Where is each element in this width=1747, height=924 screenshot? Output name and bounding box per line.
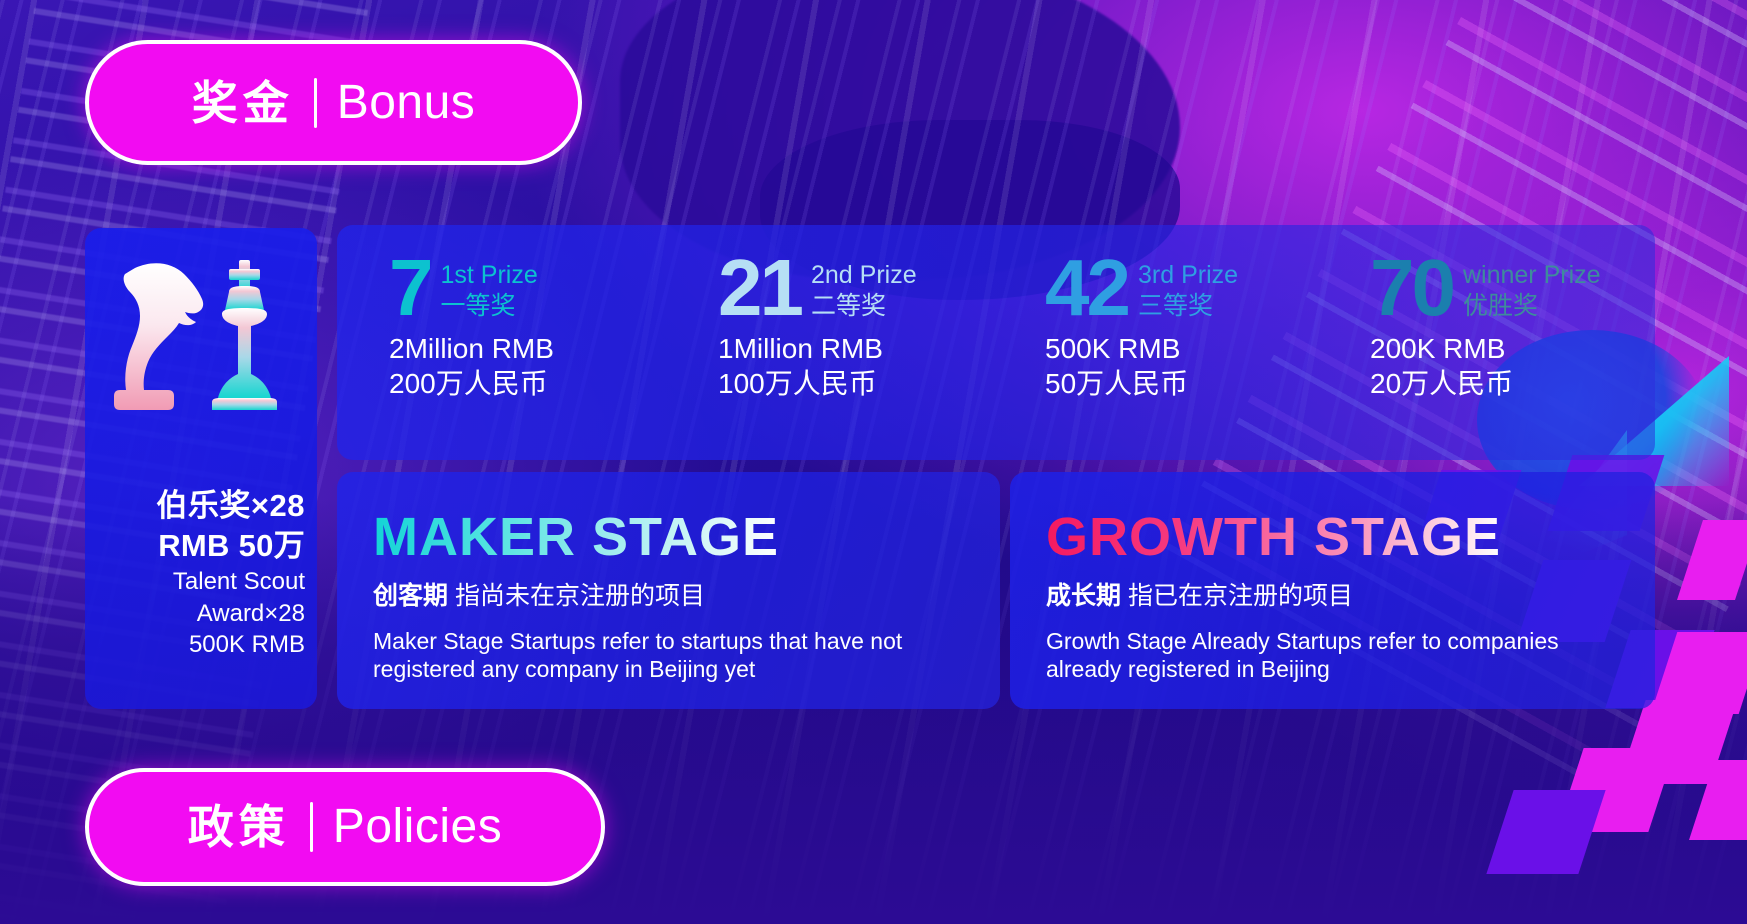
bonus-pill-divider (314, 78, 317, 128)
talent-scout-en-line-3: 500K RMB (95, 631, 305, 659)
prize-tier-winner-cn-label: 优胜奖 (1463, 291, 1601, 321)
maker-stage-cn-rest: 指尚未在京注册的项目 (448, 582, 705, 610)
prize-tier-3rd-count: 42 (1045, 253, 1128, 323)
prize-tier-3rd-en-label: 3rd Prize (1138, 261, 1238, 289)
prize-tier-winner-count: 70 (1370, 253, 1453, 323)
maker-stage-en-description: Maker Stage Startups refer to startups t… (373, 627, 966, 683)
prize-tier-1st: 7 1st Prize 一等奖 2Million RMB 200万人民币 (337, 225, 674, 401)
prize-tier-1st-amount-en: 2Million RMB (389, 331, 674, 366)
talent-scout-cn-amount: RMB 50万 (95, 527, 305, 564)
prize-tier-1st-amount-cn: 200万人民币 (389, 366, 674, 401)
prize-tier-1st-en-label: 1st Prize (441, 261, 538, 289)
prize-tier-winner-amount-en: 200K RMB (1370, 331, 1655, 366)
prize-tier-2nd: 21 2nd Prize 二等奖 1Million RMB 100万人民币 (674, 225, 1003, 401)
growth-stage-cn-description: 成长期 指已在京注册的项目 (1046, 580, 1621, 613)
bonus-pill-button[interactable]: 奖金 Bonus (85, 40, 582, 165)
policies-pill-divider (310, 802, 313, 852)
bonus-pill-en-label: Bonus (337, 79, 476, 127)
maker-stage-title: MAKER STAGE (373, 510, 779, 564)
prize-tier-2nd-amount-cn: 100万人民币 (718, 366, 1003, 401)
prize-tier-3rd: 42 3rd Prize 三等奖 500K RMB 50万人民币 (1003, 225, 1330, 401)
policies-pill-button[interactable]: 政策 Policies (85, 768, 605, 886)
growth-stage-card: GROWTH STAGE 成长期 指已在京注册的项目 Growth Stage … (1010, 472, 1655, 709)
chess-knight-king-icon (108, 256, 294, 436)
maker-stage-card: MAKER STAGE 创客期 指尚未在京注册的项目 Maker Stage S… (337, 472, 1000, 709)
prize-tier-3rd-cn-label: 三等奖 (1138, 291, 1238, 321)
talent-scout-text-block: 伯乐奖×28 RMB 50万 Talent Scout Award×28 500… (85, 488, 317, 659)
policies-pill-en-label: Policies (333, 803, 502, 851)
prize-tier-2nd-amount-en: 1Million RMB (718, 331, 1003, 366)
prize-tier-2nd-en-label: 2nd Prize (811, 261, 917, 289)
policies-pill-cn-label: 政策 (188, 804, 290, 850)
growth-stage-title: GROWTH STAGE (1046, 510, 1501, 564)
prize-tier-2nd-cn-label: 二等奖 (811, 291, 917, 321)
talent-scout-award-panel: 伯乐奖×28 RMB 50万 Talent Scout Award×28 500… (85, 228, 317, 709)
growth-stage-en-description: Growth Stage Already Startups refer to c… (1046, 627, 1621, 683)
prize-tier-winner-en-label: winner Prize (1463, 261, 1601, 289)
prize-tier-1st-count: 7 (389, 253, 431, 323)
prize-tier-winner: 70 winner Prize 优胜奖 200K RMB 20万人民币 (1330, 225, 1655, 401)
prize-tier-3rd-amount-cn: 50万人民币 (1045, 366, 1330, 401)
growth-stage-cn-rest: 指已在京注册的项目 (1121, 582, 1353, 610)
growth-stage-cn-term: 成长期 (1046, 582, 1121, 610)
prize-tier-3rd-amount-en: 500K RMB (1045, 331, 1330, 366)
maker-stage-cn-description: 创客期 指尚未在京注册的项目 (373, 580, 966, 613)
talent-scout-en-line-2: Award×28 (95, 600, 305, 628)
prize-tiers-card: 7 1st Prize 一等奖 2Million RMB 200万人民币 21 … (337, 225, 1655, 460)
poster-canvas: 奖金 Bonus (0, 0, 1747, 924)
talent-scout-en-line-1: Talent Scout (95, 568, 305, 596)
prize-tier-2nd-count: 21 (718, 253, 801, 323)
talent-scout-cn-title: 伯乐奖×28 (95, 488, 305, 525)
maker-stage-cn-term: 创客期 (373, 582, 448, 610)
prize-tier-1st-cn-label: 一等奖 (441, 291, 538, 321)
prize-tier-winner-amount-cn: 20万人民币 (1370, 366, 1655, 401)
bonus-pill-cn-label: 奖金 (192, 80, 294, 126)
